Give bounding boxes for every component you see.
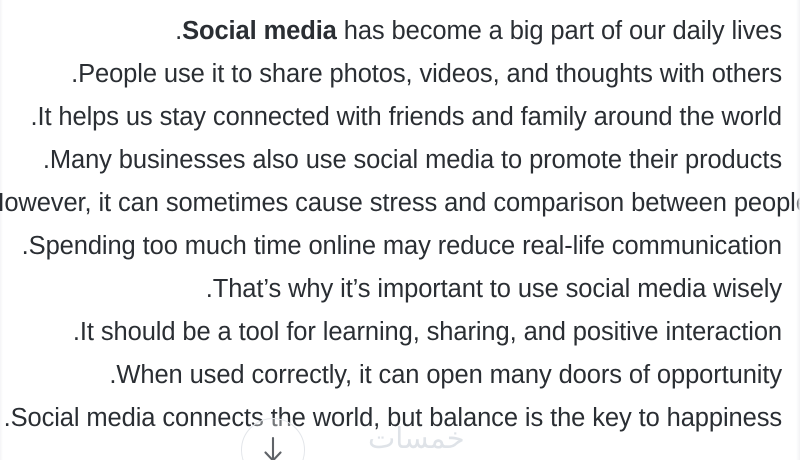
line-prefix-period: . xyxy=(4,404,11,432)
line-prefix-period: . xyxy=(22,232,29,260)
line-body: Spending too much time online may reduce… xyxy=(29,232,782,260)
text-line: However, it can sometimes cause stress a… xyxy=(0,182,782,225)
line-prefix-period: . xyxy=(206,275,213,303)
line-body: has become a big part of our daily lives xyxy=(337,17,782,45)
text-line: .When used correctly, it can open many d… xyxy=(0,354,782,397)
line-body: When used correctly, it can open many do… xyxy=(116,361,782,389)
line-prefix-period: . xyxy=(175,17,182,45)
line-body: People use it to share photos, videos, a… xyxy=(78,60,782,88)
text-line: .Social media connects the world, but ba… xyxy=(0,397,782,440)
text-line: .People use it to share photos, videos, … xyxy=(0,53,782,96)
line-prefix-period: . xyxy=(73,318,80,346)
line-body: Social media connects the world, but bal… xyxy=(11,404,782,432)
text-line: .That’s why it’s important to use social… xyxy=(0,268,782,311)
document-page: .Social media has become a big part of o… xyxy=(0,0,800,460)
paragraph-text-block: .Social media has become a big part of o… xyxy=(0,0,782,440)
text-line: .Spending too much time online may reduc… xyxy=(0,225,782,268)
text-line: .Social media has become a big part of o… xyxy=(0,10,782,53)
line-body: Many businesses also use social media to… xyxy=(50,146,782,174)
line-body: That’s why it’s important to use social … xyxy=(213,275,782,303)
line-body: It helps us stay connected with friends … xyxy=(37,103,782,131)
line-body: It should be a tool for learning, sharin… xyxy=(80,318,782,346)
line-bold-segment: Social media xyxy=(182,17,337,45)
text-line: .Many businesses also use social media t… xyxy=(0,139,782,182)
text-line: .It helps us stay connected with friends… xyxy=(0,96,782,139)
text-line: .It should be a tool for learning, shari… xyxy=(0,311,782,354)
line-prefix-period: . xyxy=(43,146,50,174)
line-body: However, it can sometimes cause stress a… xyxy=(0,189,800,217)
